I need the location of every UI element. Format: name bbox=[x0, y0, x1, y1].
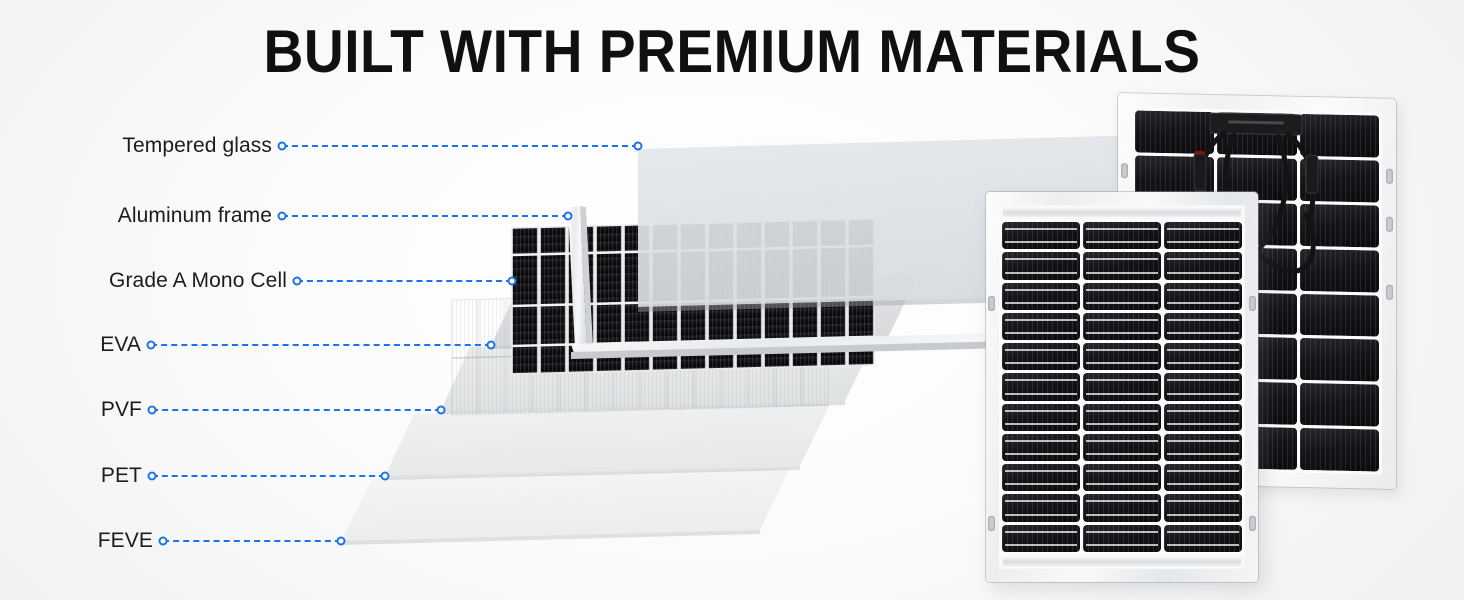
mount-hole bbox=[1249, 296, 1256, 311]
leader-line-eva bbox=[151, 344, 491, 346]
leader-line-pvf bbox=[152, 409, 441, 411]
leader-dot-start-tempered-glass bbox=[278, 142, 287, 151]
leader-dot-end-aluminum-frame bbox=[564, 212, 573, 221]
leader-line-pet bbox=[152, 475, 385, 477]
leader-dot-end-pet bbox=[381, 472, 390, 481]
mount-hole bbox=[988, 296, 995, 311]
callout-label-feve: FEVE bbox=[98, 529, 153, 553]
mount-hole bbox=[1386, 217, 1393, 232]
callout-label-aluminum-frame: Aluminum frame bbox=[118, 204, 272, 228]
front-panel-cell-grid bbox=[999, 219, 1245, 555]
solar-cell bbox=[1002, 373, 1080, 400]
solar-cell bbox=[1083, 525, 1161, 552]
front-panel-cell-area bbox=[999, 205, 1245, 569]
callout-label-pet: PET bbox=[101, 464, 142, 488]
callout-label-grade-a-mono-cell: Grade A Mono Cell bbox=[109, 269, 287, 293]
leader-dot-start-eva bbox=[147, 341, 156, 350]
solar-cell bbox=[1083, 252, 1161, 279]
solar-cell bbox=[1164, 252, 1242, 279]
pvf-sheet bbox=[441, 338, 876, 410]
solar-cell bbox=[1083, 464, 1161, 491]
leader-line-tempered-glass bbox=[282, 145, 638, 147]
solar-cell bbox=[1083, 222, 1161, 249]
solar-cell bbox=[1164, 373, 1242, 400]
leader-dot-end-grade-a-mono-cell bbox=[508, 277, 517, 286]
front-solar-panel bbox=[986, 192, 1258, 582]
leader-dot-start-grade-a-mono-cell bbox=[293, 277, 302, 286]
backsheet-ghost-cells bbox=[452, 290, 828, 415]
solar-cell bbox=[1164, 525, 1242, 552]
leader-dot-start-feve bbox=[159, 537, 168, 546]
solar-cell bbox=[1083, 434, 1161, 461]
page-title: BUILT WITH PREMIUM MATERIALS bbox=[59, 20, 1406, 83]
mc4-connector bbox=[1194, 151, 1318, 194]
leader-dot-start-aluminum-frame bbox=[278, 212, 287, 221]
bottom-bus-rail bbox=[1003, 557, 1241, 566]
leader-line-grade-a-mono-cell bbox=[297, 280, 512, 282]
leader-dot-start-pvf bbox=[148, 406, 157, 415]
solar-cell bbox=[1083, 283, 1161, 310]
leader-dot-start-pet bbox=[148, 472, 157, 481]
solar-cell bbox=[1164, 404, 1242, 431]
top-bus-rail bbox=[1003, 208, 1241, 217]
solar-cell bbox=[1164, 283, 1242, 310]
solar-cell bbox=[1164, 343, 1242, 370]
mount-hole bbox=[1386, 169, 1393, 184]
solar-cell bbox=[1002, 494, 1080, 521]
callout-label-pvf: PVF bbox=[101, 398, 142, 422]
mount-hole bbox=[1121, 163, 1128, 178]
leader-dot-end-pvf bbox=[437, 406, 446, 415]
infographic-root: BUILT WITH PREMIUM MATERIALS bbox=[0, 0, 1464, 600]
solar-cell bbox=[1164, 434, 1242, 461]
leader-line-feve bbox=[163, 540, 341, 542]
leader-dot-end-feve bbox=[337, 537, 346, 546]
eva-sheet bbox=[491, 276, 918, 345]
solar-cell bbox=[1164, 313, 1242, 340]
solar-cell bbox=[1083, 373, 1161, 400]
solar-cell bbox=[1002, 464, 1080, 491]
mount-hole bbox=[1386, 285, 1393, 300]
callout-label-eva: EVA bbox=[100, 333, 141, 357]
solar-cell bbox=[1164, 222, 1242, 249]
solar-cell bbox=[1002, 252, 1080, 279]
solar-cell bbox=[1002, 434, 1080, 461]
feve-sheet bbox=[341, 468, 790, 541]
solar-cell bbox=[1164, 464, 1242, 491]
solar-cell bbox=[1002, 222, 1080, 249]
pet-sheet bbox=[385, 404, 830, 476]
leader-dot-end-tempered-glass bbox=[634, 142, 643, 151]
solar-cell bbox=[1083, 404, 1161, 431]
leader-dot-end-eva bbox=[487, 341, 496, 350]
solar-cell bbox=[1002, 283, 1080, 310]
mount-hole bbox=[988, 516, 995, 531]
mount-hole bbox=[1249, 516, 1256, 531]
leader-line-aluminum-frame bbox=[282, 215, 568, 217]
solar-cell bbox=[1002, 343, 1080, 370]
solar-cell bbox=[1083, 313, 1161, 340]
solar-cell bbox=[1002, 525, 1080, 552]
solar-cell bbox=[1002, 313, 1080, 340]
solar-cell bbox=[1083, 343, 1161, 370]
callout-label-tempered-glass: Tempered glass bbox=[122, 134, 272, 158]
solar-cell bbox=[1164, 494, 1242, 521]
solar-cell bbox=[1002, 404, 1080, 431]
solar-cell bbox=[1083, 494, 1161, 521]
mono-cell-array bbox=[512, 219, 874, 374]
